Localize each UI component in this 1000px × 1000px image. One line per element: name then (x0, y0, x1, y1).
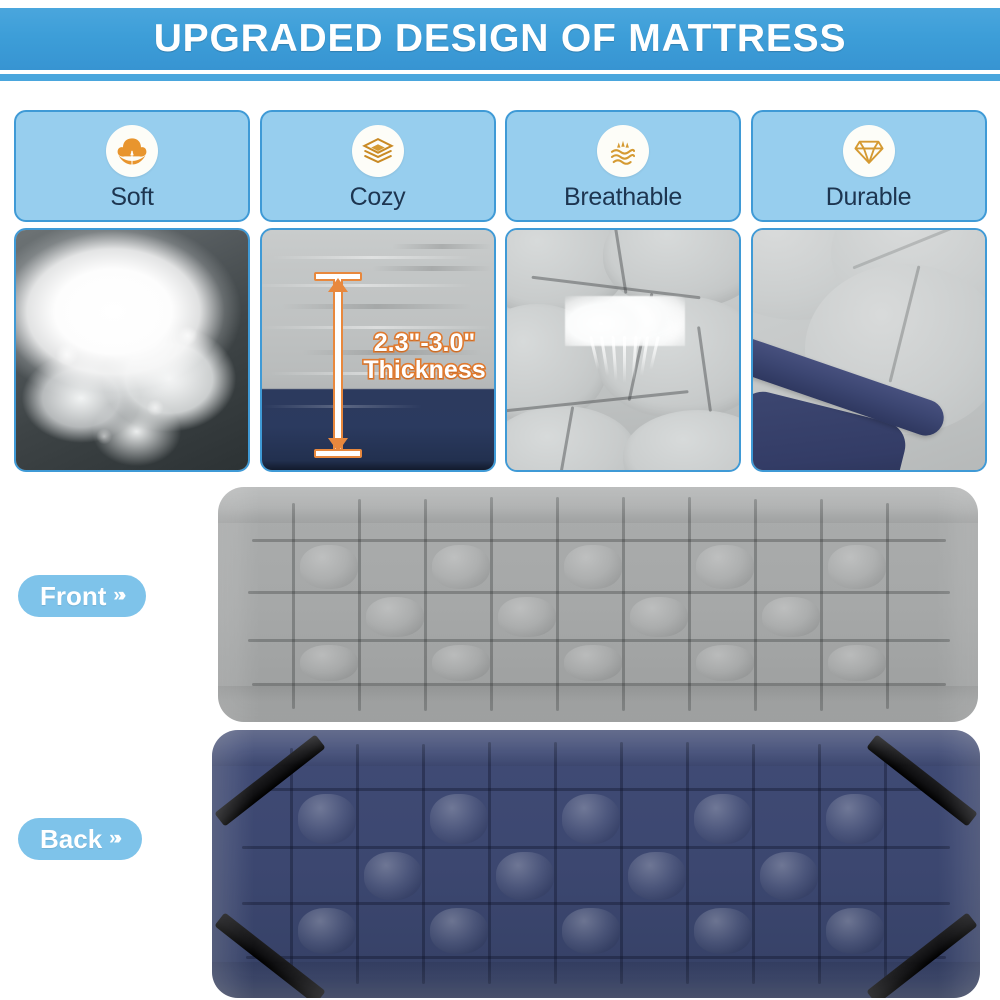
header-divider-white-2 (0, 81, 1000, 86)
mattress-pad-back (212, 730, 980, 998)
thickness-callout: 2.3"-3.0" Thickness (350, 330, 496, 384)
stacked-layers-icon (352, 125, 404, 177)
feature-card-durable: Durable (751, 110, 987, 472)
feature-card-durable-header: Durable (751, 110, 987, 222)
header-bar: UPGRADED DESIGN OF MATTRESS (0, 8, 1000, 70)
feature-card-breathable-header: Breathable (505, 110, 741, 222)
feature-photo-cozy: 2.3"-3.0" Thickness (260, 228, 496, 472)
thickness-value: 2.3"-3.0" (350, 330, 496, 357)
mattress-photo-back (212, 730, 980, 998)
feature-card-row: Soft Cozy (14, 110, 986, 472)
page-title: UPGRADED DESIGN OF MATTRESS (154, 17, 847, 61)
feature-photo-durable (751, 228, 987, 472)
feature-card-cozy-header: Cozy (260, 110, 496, 222)
cotton-boll-icon (106, 125, 158, 177)
feature-card-soft: Soft (14, 110, 250, 472)
feature-photo-breathable (505, 228, 741, 472)
tufting-grid-back (212, 730, 980, 998)
feature-photo-soft (14, 228, 250, 472)
airflow-cloud-graphic (565, 296, 685, 388)
view-label-back-text: Back (40, 824, 102, 855)
feature-card-cozy-label: Cozy (350, 183, 406, 212)
header-divider-blue (0, 74, 1000, 81)
feature-card-breathable: Breathable (505, 110, 741, 472)
mattress-photo-front (218, 487, 978, 722)
chevron-right-icon-back: »› (109, 828, 122, 850)
view-label-front: Front »› (18, 575, 146, 617)
feature-card-soft-label: Soft (110, 183, 153, 212)
feature-card-breathable-label: Breathable (564, 183, 682, 212)
chevron-right-icon: »› (113, 585, 126, 607)
feature-card-soft-header: Soft (14, 110, 250, 222)
airflow-waves-icon (597, 125, 649, 177)
view-label-back: Back »› (18, 818, 142, 860)
thickness-caption: Thickness (350, 357, 496, 384)
view-label-front-text: Front (40, 581, 106, 612)
feature-card-cozy: Cozy 2.3 (260, 110, 496, 472)
diamond-gem-icon (843, 125, 895, 177)
mattress-pad-front (218, 487, 978, 722)
header-banner: UPGRADED DESIGN OF MATTRESS (0, 0, 1000, 92)
feature-card-durable-label: Durable (826, 183, 911, 212)
